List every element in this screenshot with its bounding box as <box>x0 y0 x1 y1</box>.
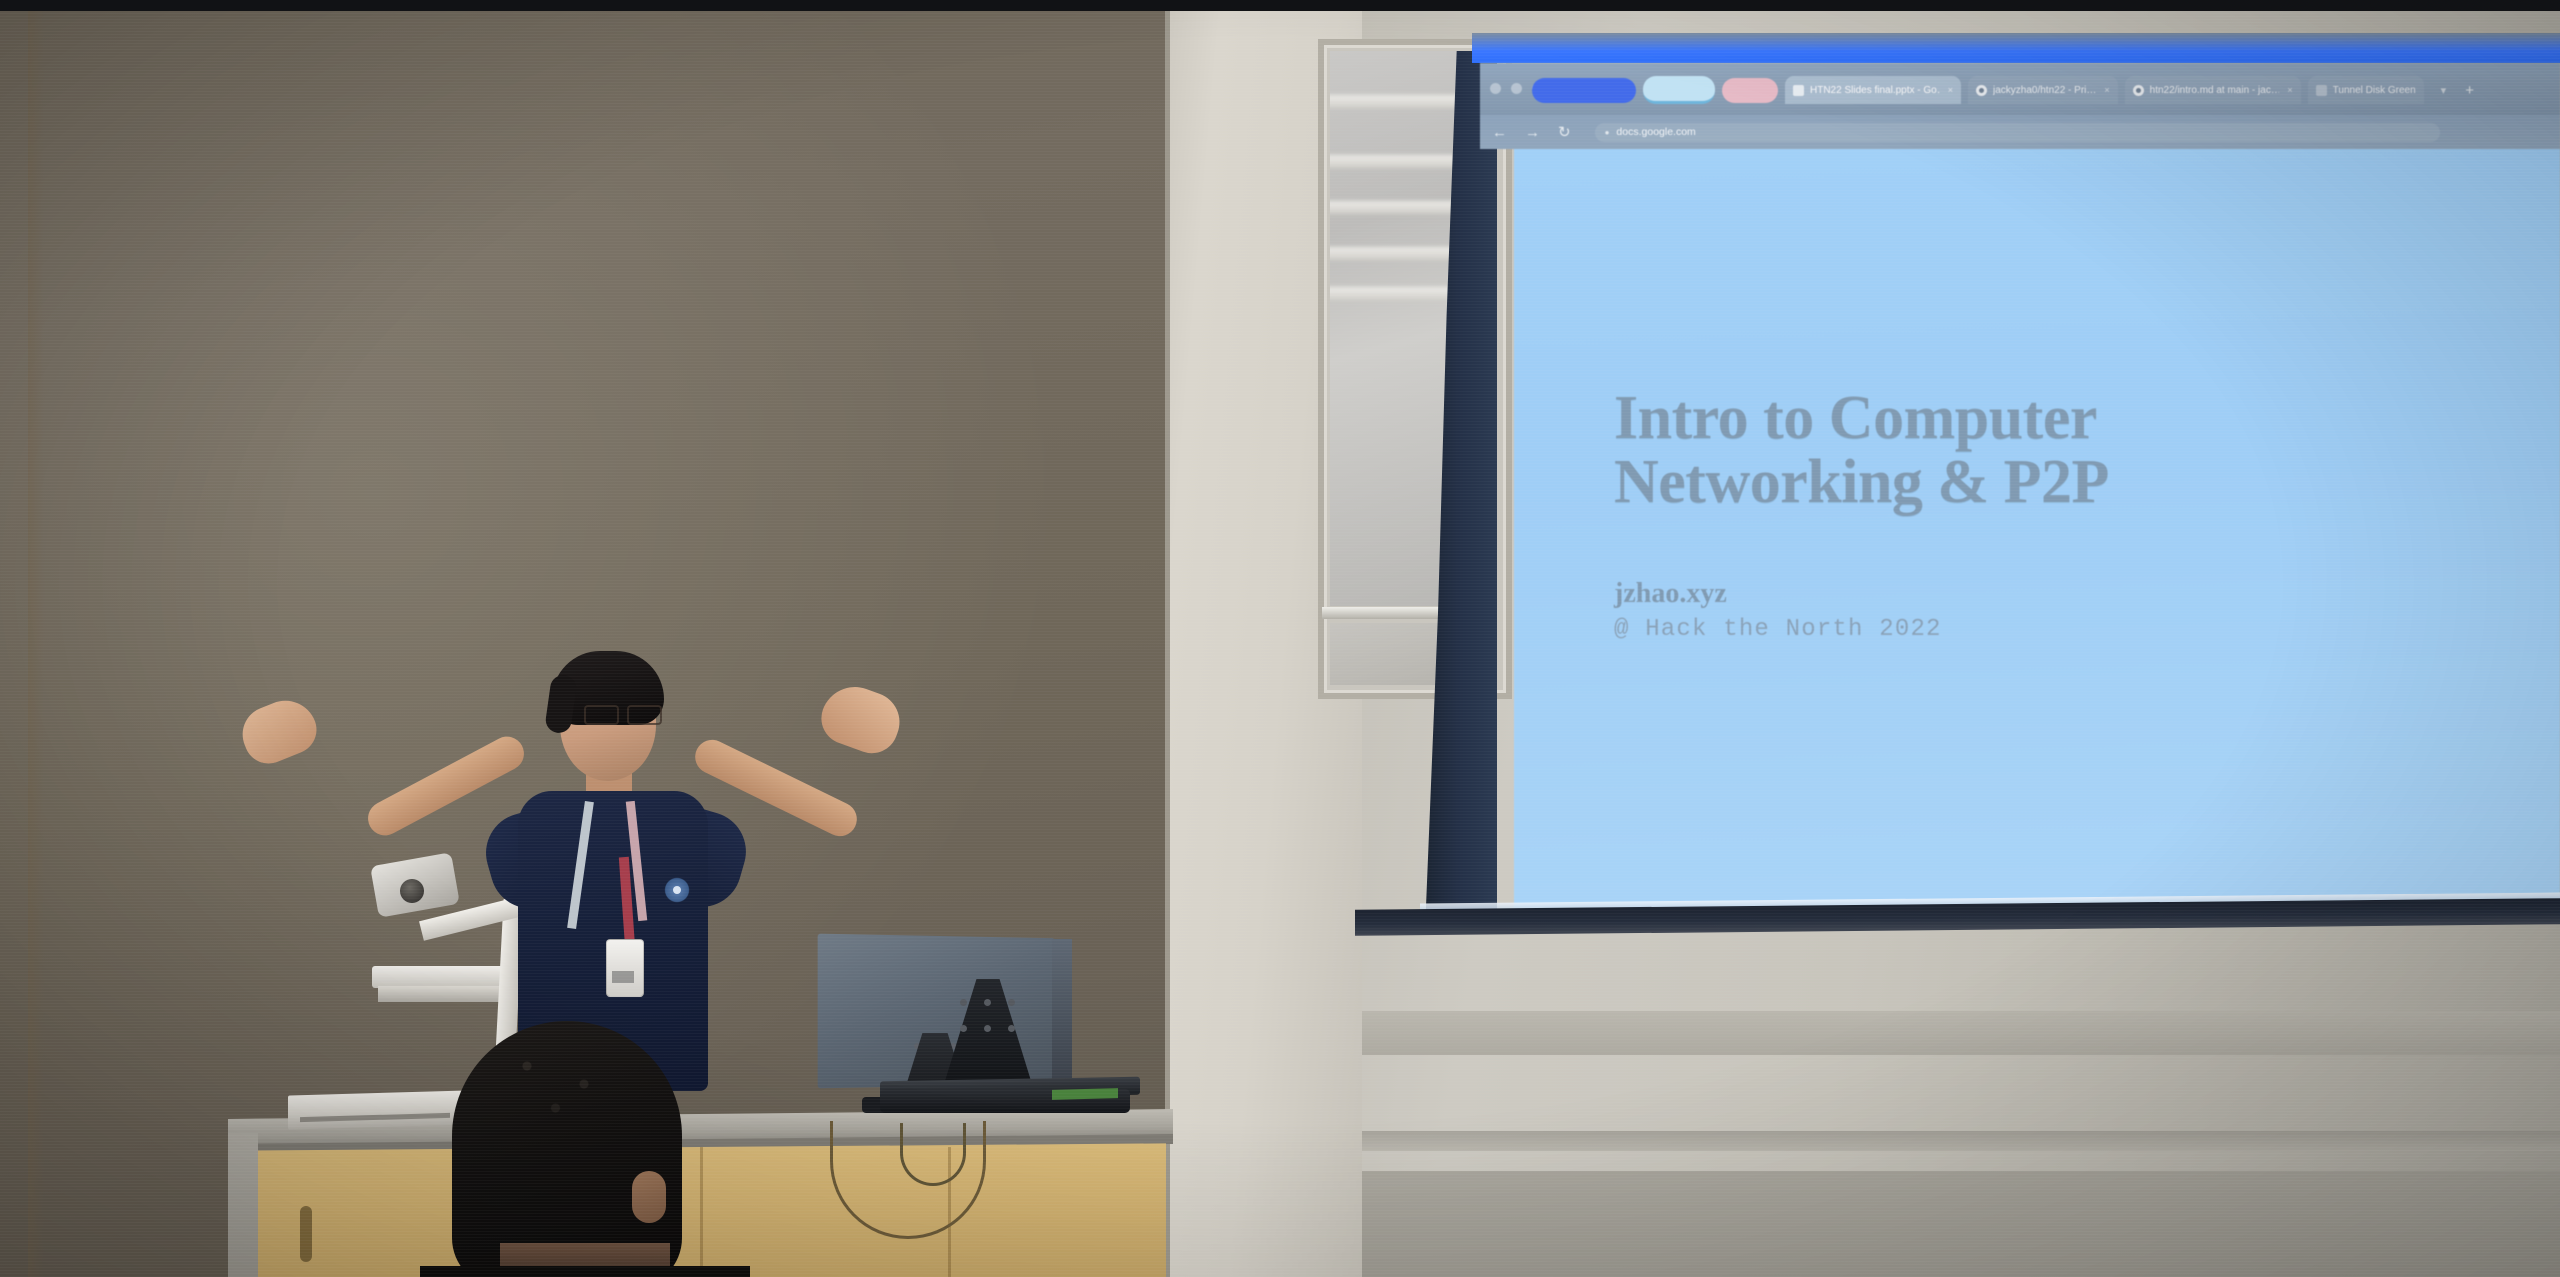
tab-group-pink[interactable] <box>1722 78 1778 103</box>
tab-github-repo[interactable]: jackyzha0/htn22 - Pri… × <box>1968 76 2118 104</box>
shirt-logo-icon <box>660 873 694 907</box>
slide-title-line-2: Networking & P2P <box>1614 451 2494 515</box>
google-slides-canvas[interactable]: Intro to Computer Networking & P2P jzhao… <box>1514 149 2560 908</box>
address-bar-url: docs.google.com <box>1616 126 1695 138</box>
badge-stripe <box>612 971 634 983</box>
green-cable-strip <box>1052 1088 1118 1100</box>
projected-browser-window: HTN22 Slides final.pptx - Go… × jackyzha… <box>1480 63 2560 908</box>
close-icon[interactable]: × <box>1948 85 1953 95</box>
lanyard-badge <box>606 939 644 997</box>
tab-search-icon[interactable]: ▾ <box>2441 84 2447 97</box>
ghost-icon <box>2316 85 2327 96</box>
audience-shoulder <box>420 1266 750 1277</box>
reload-icon[interactable]: ↻ <box>1558 125 1571 140</box>
second-monitor-edge <box>1052 939 1072 1085</box>
tab-group-cyan[interactable] <box>1643 76 1715 104</box>
cabinet-seam <box>700 1147 703 1277</box>
wall-seam <box>28 11 44 1277</box>
close-icon[interactable]: × <box>2287 85 2292 95</box>
wall-band <box>1362 1171 2560 1277</box>
tab-tunnel[interactable]: Tunnel Disk Green <box>2308 76 2424 104</box>
screenshot-stage: HTN22 Slides final.pptx - Go… × jackyzha… <box>0 0 2560 1277</box>
minimize-icon[interactable] <box>1511 83 1522 94</box>
tab-title: Tunnel Disk Green <box>2333 85 2416 96</box>
close-icon[interactable]: × <box>2104 85 2109 95</box>
tab-group-blue[interactable] <box>1532 78 1636 103</box>
browser-toolbar: ← → ↻ ● docs.google.com <box>1480 115 2560 149</box>
address-bar[interactable]: ● docs.google.com <box>1595 123 2440 142</box>
tab-github-intro-md[interactable]: htn22/intro.md at main - jac… × <box>2125 76 2301 104</box>
second-monitor-vesa-plate <box>960 999 1016 1055</box>
wall-band <box>1362 1011 2560 1055</box>
slide-subtitle: jzhao.xyz <box>1614 577 2494 611</box>
podium-side-panel <box>228 1133 258 1277</box>
lecture-hall-photo: HTN22 Slides final.pptx - Go… × jackyzha… <box>0 11 2560 1277</box>
tab-slides[interactable]: HTN22 Slides final.pptx - Go… × <box>1785 76 1961 104</box>
github-icon <box>2133 85 2144 96</box>
tab-title: jackyzha0/htn22 - Pri… <box>1993 85 2096 96</box>
back-icon[interactable]: ← <box>1492 125 1507 140</box>
podium-cabinet <box>246 1143 1166 1277</box>
glasses-icon <box>584 705 662 721</box>
wall-band <box>1362 1131 2560 1151</box>
tab-title: htn22/intro.md at main - jac… <box>2150 85 2280 96</box>
slide-venue: @ Hack the North 2022 <box>1614 616 2494 643</box>
slides-icon <box>1793 85 1804 96</box>
close-icon[interactable] <box>1490 83 1501 94</box>
forward-icon[interactable]: → <box>1525 125 1540 140</box>
power-cable <box>900 1123 966 1186</box>
new-tab-button[interactable]: + <box>2465 83 2474 98</box>
cabinet-handle <box>300 1206 312 1262</box>
github-icon <box>1976 85 1987 96</box>
slide-text-block: Intro to Computer Networking & P2P jzhao… <box>1614 387 2494 643</box>
audience-ear <box>632 1171 666 1223</box>
tab-strip[interactable]: HTN22 Slides final.pptx - Go… × jackyzha… <box>1532 74 2474 106</box>
letterbox-bar-top <box>0 0 2560 11</box>
slide-title-line-1: Intro to Computer <box>1614 387 2494 451</box>
tab-title: HTN22 Slides final.pptx - Go… <box>1810 85 1940 96</box>
lock-icon: ● <box>1605 128 1610 137</box>
projector-screen-top-edge <box>1472 33 2560 63</box>
pillar-edge <box>1165 11 1170 1277</box>
